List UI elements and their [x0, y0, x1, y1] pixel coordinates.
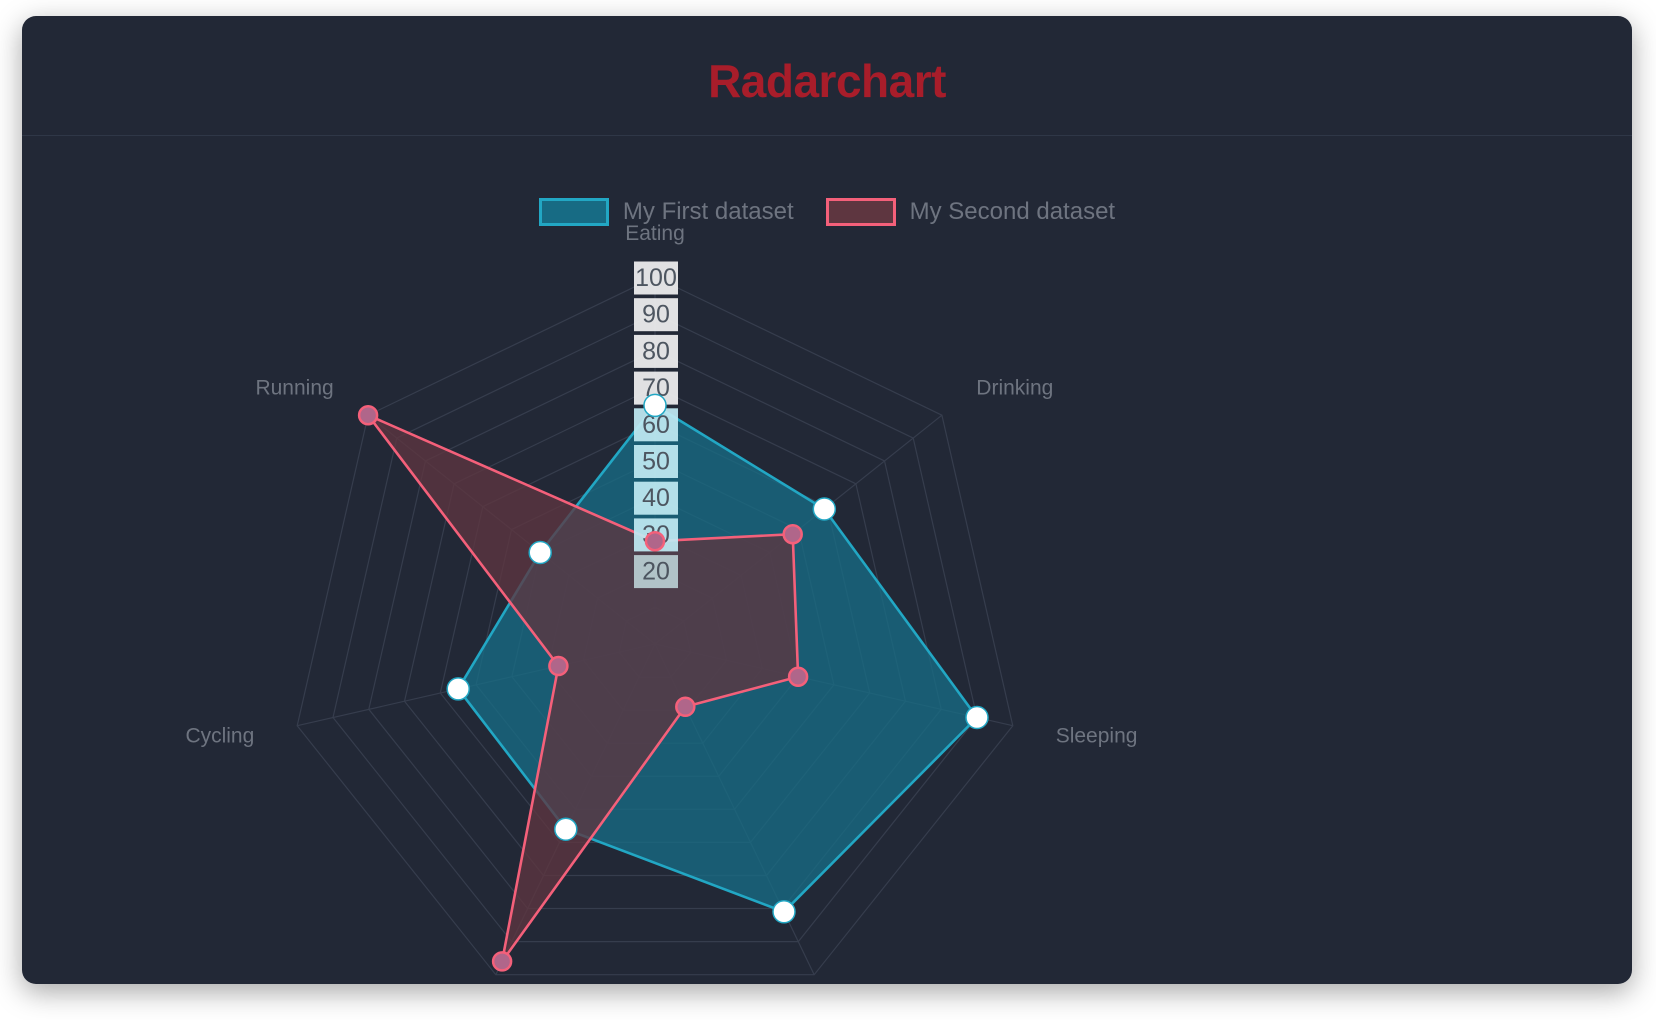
radar-point-running-s0[interactable] — [529, 542, 551, 564]
radar-point-sleeping-s0[interactable] — [966, 707, 988, 729]
radar-chart: EatingDrinkingSleepingDesigningCodingCyc… — [22, 136, 1632, 984]
page-title: Radarchart — [22, 54, 1632, 108]
radar-point-designing-s0[interactable] — [773, 901, 795, 923]
axis-label-drinking: Drinking — [976, 377, 1053, 400]
radar-point-sleeping-s1[interactable] — [789, 668, 807, 686]
radar-point-eating-s1[interactable] — [646, 532, 664, 550]
radial-tick-label: 40 — [642, 484, 670, 512]
radar-plot[interactable]: EatingDrinkingSleepingDesigningCodingCyc… — [22, 136, 1632, 984]
radar-point-eating-s0[interactable] — [644, 394, 666, 416]
radar-point-coding-s0[interactable] — [555, 818, 577, 840]
radar-point-coding-s1[interactable] — [493, 952, 511, 970]
radial-tick-label: 90 — [642, 301, 670, 329]
axis-label-running: Running — [255, 377, 333, 400]
radar-point-running-s1[interactable] — [359, 406, 377, 424]
radial-tick-label: 80 — [642, 337, 670, 365]
radar-point-drinking-s1[interactable] — [784, 525, 802, 543]
radar-point-cycling-s1[interactable] — [549, 657, 567, 675]
chart-card: Radarchart My First dataset My Second da… — [22, 16, 1632, 984]
radial-tick-label: 100 — [635, 264, 677, 292]
axis-label-sleeping: Sleeping — [1056, 725, 1138, 748]
card-header: Radarchart — [22, 16, 1632, 136]
radar-point-cycling-s0[interactable] — [447, 678, 469, 700]
radar-point-designing-s1[interactable] — [676, 698, 694, 716]
radial-tick-label: 20 — [642, 558, 670, 586]
axis-label-cycling: Cycling — [185, 725, 254, 748]
radial-tick-label: 50 — [642, 448, 670, 476]
radar-point-drinking-s0[interactable] — [813, 498, 835, 520]
axis-label-eating: Eating — [625, 222, 685, 245]
